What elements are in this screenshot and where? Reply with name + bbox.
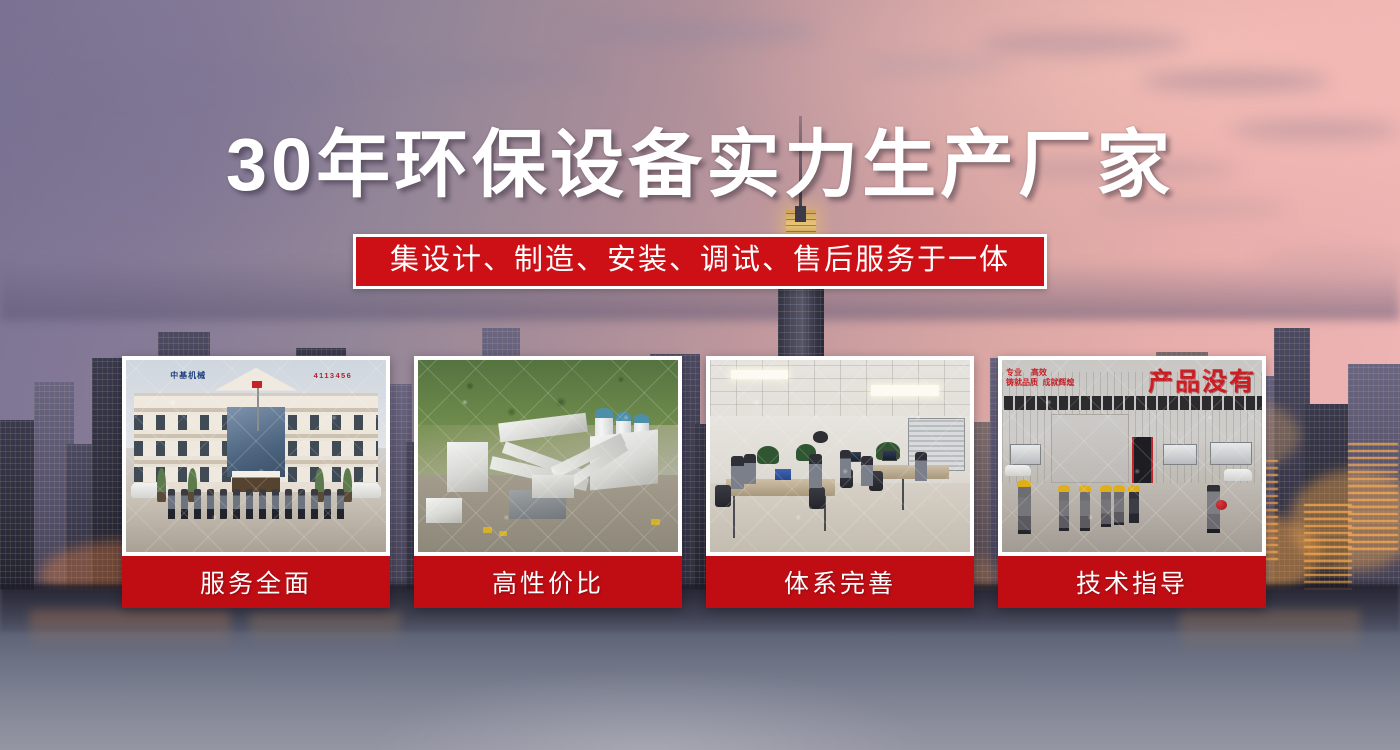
silo-cap <box>634 414 650 424</box>
staff-member <box>311 489 318 519</box>
subtitle-banner: 集设计、制造、安装、调试、售后服务于一体 <box>353 234 1047 289</box>
office-staff <box>809 454 822 488</box>
factory-side-door <box>1132 437 1153 483</box>
office-staff <box>744 454 756 484</box>
office-chair <box>715 485 731 507</box>
excavator <box>483 527 492 533</box>
potted-plant <box>757 446 779 464</box>
workshop-training-photo: 专业 高效 铸就品质 成就辉煌 产品没有 <box>1002 360 1262 552</box>
plant-shed <box>532 475 574 498</box>
office-staff-photo <box>710 360 970 552</box>
card-caption: 体系完善 <box>706 556 974 608</box>
staff-member <box>272 489 279 519</box>
worker <box>1101 491 1111 527</box>
water-reflection <box>30 610 230 650</box>
card-caption: 服务全面 <box>122 556 390 608</box>
silo-cap <box>595 408 613 418</box>
worker <box>1059 491 1069 531</box>
feature-card[interactable]: 专业 高效 铸就品质 成就辉煌 产品没有 <box>998 356 1266 608</box>
cloud <box>1140 70 1330 92</box>
flagpole <box>257 381 259 431</box>
factory-slogan-big: 产品没有 <box>1148 362 1256 398</box>
lit-facade <box>1304 500 1352 590</box>
lit-facade <box>1348 440 1398 550</box>
cloud <box>560 20 820 44</box>
factory-window <box>1210 442 1252 465</box>
parked-car <box>1005 465 1031 476</box>
factory-roof-trim <box>1002 396 1262 409</box>
card-caption: 技术指导 <box>998 556 1266 608</box>
staff-member <box>220 489 227 519</box>
subtitle-banner-wrap: 集设计、制造、安装、调试、售后服务于一体 <box>0 234 1400 289</box>
desk-leg <box>902 479 904 510</box>
monitor <box>882 450 897 461</box>
office-chair <box>809 487 825 509</box>
staff-member <box>181 489 188 519</box>
cloud <box>860 55 1010 75</box>
feature-card-row: 中基机械 4113456 <box>122 356 1278 608</box>
ceiling-light <box>871 385 939 397</box>
company-headquarters-photo: 中基机械 4113456 <box>126 360 386 552</box>
office-block <box>426 498 462 523</box>
worker <box>1129 491 1139 523</box>
worker <box>1080 491 1090 531</box>
desk-leg <box>733 496 735 538</box>
hard-hat <box>1128 485 1140 492</box>
staff-member <box>285 489 292 519</box>
feature-card[interactable]: 高性价比 <box>414 356 682 608</box>
factory-slogan-banner: 专业 高效 铸就品质 成就辉煌 产品没有 <box>1002 364 1262 397</box>
page-title: 30年环保设备实力生产厂家 <box>0 128 1400 202</box>
factory-window <box>1010 444 1041 465</box>
factory-slogan-small: 专业 高效 铸就品质 成就辉煌 <box>1006 368 1074 388</box>
staff-member <box>246 489 253 519</box>
staff-member <box>298 489 305 519</box>
red-helmet <box>1216 500 1227 510</box>
staff-member <box>259 489 266 519</box>
laptop <box>775 469 791 480</box>
office-staff <box>731 456 744 489</box>
office-building <box>134 393 378 493</box>
staff-member <box>233 489 240 519</box>
cloud <box>300 62 600 82</box>
parked-car <box>1224 469 1252 481</box>
building-sign-text: 中基机械 <box>170 370 206 381</box>
worker <box>1018 486 1031 534</box>
silo-cap <box>616 412 632 422</box>
water-reflection <box>250 612 400 646</box>
tree <box>343 468 352 502</box>
cloud <box>980 30 1190 56</box>
hard-hat <box>1017 480 1031 487</box>
plant-building <box>447 442 489 492</box>
staff-member <box>194 489 201 519</box>
building-phone-text: 4113456 <box>314 371 353 380</box>
card-caption: 高性价比 <box>414 556 682 608</box>
hard-hat <box>1079 485 1091 492</box>
feature-card[interactable]: 体系完善 <box>706 356 974 608</box>
staff-member <box>337 489 344 519</box>
worker <box>1114 491 1124 525</box>
tree <box>157 468 166 502</box>
hard-hat <box>1100 485 1112 492</box>
national-flag <box>252 381 262 388</box>
hard-hat <box>1058 485 1070 492</box>
staff-member <box>207 489 214 519</box>
excavator <box>499 531 507 536</box>
office-staff <box>861 456 873 486</box>
hard-hat <box>1113 485 1125 492</box>
promo-banner: 30年环保设备实力生产厂家 集设计、制造、安装、调试、售后服务于一体 <box>0 0 1400 750</box>
water-reflection <box>1180 610 1360 654</box>
feature-card[interactable]: 中基机械 4113456 <box>122 356 390 608</box>
office-staff <box>840 450 851 478</box>
cloud <box>60 78 340 96</box>
aerial-production-plant-photo <box>418 360 678 552</box>
staff-member <box>168 489 175 519</box>
excavator <box>651 519 660 525</box>
ceiling-light <box>731 370 788 380</box>
building-glass-atrium <box>227 407 286 477</box>
factory-window <box>1163 444 1197 465</box>
office-staff <box>915 452 927 481</box>
factory-rolling-door <box>1051 414 1129 483</box>
staff-member <box>324 489 331 519</box>
